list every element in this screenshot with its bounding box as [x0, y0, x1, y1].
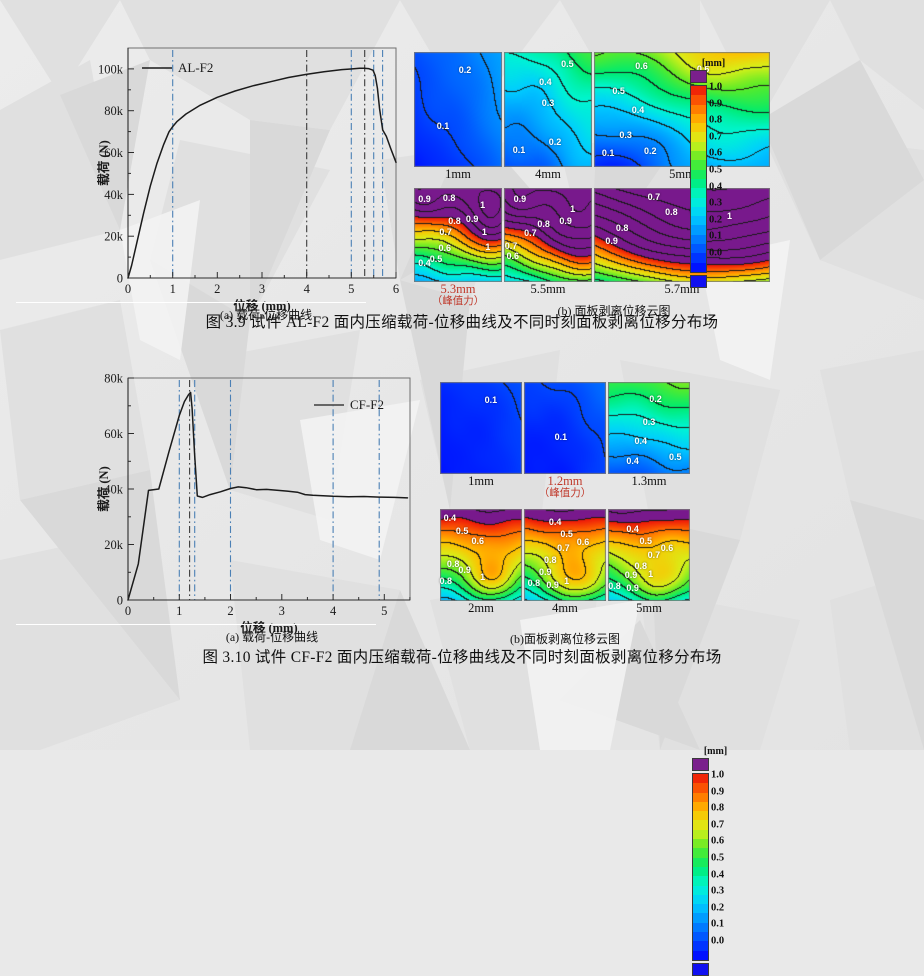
- colorbar-tick: 0.5: [709, 165, 722, 176]
- panel-caption: 2mm: [440, 602, 522, 615]
- colorbar-al-f2: [mm] 1.0 0.9 0.8 0.7 0.6 0.5 0.4 0.3 0.2: [690, 58, 737, 288]
- marker-lines: [173, 50, 383, 278]
- subcaption-a: (a) 载荷-位移曲线: [132, 628, 412, 645]
- colorbar-tick: 0.2: [711, 902, 724, 913]
- contour-panel-5-5mm: 0.9 0.8 0.9 1 0.7 0.7 0.6: [504, 188, 592, 282]
- contour-panel-5-3mm: 0.9 0.8 0.8 0.9 1 1 1 0.7 0.6 0.5 0.4: [414, 188, 502, 282]
- legend-al-f2: AL-F2: [142, 60, 213, 75]
- xtick-1: 1: [170, 282, 176, 296]
- panel-caption: 4mm: [504, 168, 592, 181]
- x-axis-ticks: [128, 594, 410, 600]
- ytick-0: 0: [117, 272, 123, 286]
- xtick-0: 0: [125, 604, 131, 618]
- curve-cf-f2: [128, 392, 408, 600]
- y-axis-title: 载荷 (N): [96, 466, 111, 511]
- contour-row-top-captions: 1mm 1.2mm （峰值力） 1.3mm: [440, 475, 690, 499]
- x-axis-ticks: [128, 272, 396, 278]
- ytick-20k: 20k: [104, 538, 124, 552]
- contour-panel-1-2mm: 0.1: [524, 382, 606, 474]
- colorbar-tick: 0.7: [709, 131, 722, 142]
- xtick-2: 2: [227, 604, 233, 618]
- colorbar-under-cap: [690, 275, 707, 288]
- colorbar-tick: 0.2: [709, 214, 722, 225]
- ytick-20k: 20k: [104, 230, 124, 244]
- panel-caption: 5mm: [608, 602, 690, 615]
- colorbar-title: [mm]: [692, 746, 739, 757]
- colorbar-tick: 0.1: [711, 919, 724, 930]
- colorbar-tick: 0.3: [709, 198, 722, 209]
- contour-panel-5mm: 0.6 0.6 0.5 0.4 0.3 0.1 0.2: [594, 52, 770, 167]
- xtick-4: 4: [304, 282, 311, 296]
- contour-panel-4mm: 0.5 0.4 0.3 0.2 0.1: [504, 52, 592, 167]
- colorbar-over-cap: [690, 70, 707, 83]
- xtick-3: 3: [279, 604, 285, 618]
- panel-caption: 1.3mm: [608, 475, 690, 499]
- xtick-5: 5: [381, 604, 387, 618]
- colorbar-cf-f2: [mm] 1.0 0.9 0.8 0.7 0.6 0.5 0.4 0.3 0.2: [692, 746, 739, 976]
- curve-al-f2: [128, 68, 396, 278]
- colorbar-tick: 0.8: [709, 115, 722, 126]
- contour-row-top: 0.1 0.1 0.2 0.3 0.4 0.4 0.: [440, 382, 690, 474]
- chart-al-f2-load-displacement: AL-F2: [96, 40, 416, 308]
- colorbar-tick: 0.0: [711, 936, 724, 947]
- contour-row-bottom: 0.4 0.5 0.6 0.8 0.9 1 0.8 0.4 0.5 0.6: [440, 509, 690, 601]
- panel-caption-value: 5.3mm: [440, 282, 475, 296]
- contour-panel-5mm: 0.4 0.5 0.6 0.7 0.8 0.9 1 0.8 0.9: [608, 509, 690, 601]
- xtick-4: 4: [330, 604, 337, 618]
- legend-label: CF-F2: [350, 397, 384, 412]
- y-axis-title: 载荷 (N): [96, 140, 111, 185]
- colorbar-tick: 0.7: [711, 819, 724, 830]
- colorbar-tick: 0.4: [709, 181, 722, 192]
- panel-caption: 1mm: [440, 475, 522, 499]
- colorbar-over-cap: [692, 758, 709, 771]
- colorbar-tick: 1.0: [709, 82, 722, 93]
- contour-panel-4mm: 0.4 0.5 0.6 0.7 0.8 0.9 0.8 0.9 1: [524, 509, 606, 601]
- chart-cf-f2-load-displacement: CF-F2 0: [96, 370, 426, 630]
- colorbar-title: [mm]: [690, 58, 737, 69]
- figure-3-9-caption: 图 3.9 试件 AL-F2 面内压缩载荷-位移曲线及不同时刻面板剥离位移分布场: [0, 310, 924, 332]
- ytick-40k: 40k: [104, 188, 124, 202]
- panel-caption: 4mm: [524, 602, 606, 615]
- contour-panel-2mm: 0.4 0.5 0.6 0.8 0.9 1 0.8: [440, 509, 522, 601]
- colorbar-tick: 0.6: [711, 836, 724, 847]
- xtick-6: 6: [393, 282, 399, 296]
- legend-cf-f2: CF-F2: [314, 397, 384, 412]
- y-axis-ticks: [128, 69, 134, 278]
- ytick-0: 0: [117, 594, 123, 608]
- panel-caption-peak: 1.2mm （峰值力）: [524, 475, 606, 499]
- panel-caption: 5mm: [594, 168, 770, 181]
- y-axis-ticks: [128, 378, 134, 600]
- panel-caption-value: 1.2mm: [547, 474, 582, 488]
- contour-panel-5-7mm: 0.7 0.8 0.9 1 0.8 0.9: [594, 188, 770, 282]
- panel-caption: 1mm: [414, 168, 502, 181]
- figure-3-10-caption: 图 3.10 试件 CF-F2 面内压缩载荷-位移曲线及不同时刻面板剥离位移分布…: [0, 645, 924, 667]
- colorbar-tick: 0.1: [709, 231, 722, 242]
- xtick-2: 2: [214, 282, 220, 296]
- ytick-80k: 80k: [104, 372, 124, 386]
- colorbar-tick: 0.5: [711, 853, 724, 864]
- ytick-100k: 100k: [98, 62, 124, 76]
- xtick-0: 0: [125, 282, 131, 296]
- contour-group-cf-f2: 0.1 0.1 0.2 0.3 0.4 0.4 0.: [440, 382, 690, 615]
- ytick-80k: 80k: [104, 104, 124, 118]
- colorbar-tick: 0.3: [711, 886, 724, 897]
- contour-panel-1mm: 0.1: [440, 382, 522, 474]
- colorbar-tick: 0.9: [711, 786, 724, 797]
- colorbar-tick: 0.0: [709, 248, 722, 259]
- colorbar-tick: 0.9: [709, 98, 722, 109]
- ytick-60k: 60k: [104, 427, 124, 441]
- xtick-3: 3: [259, 282, 265, 296]
- xtick-5: 5: [348, 282, 354, 296]
- contour-row-bottom-captions: 2mm 4mm 5mm: [440, 602, 690, 615]
- legend-label: AL-F2: [178, 60, 213, 75]
- contour-panel-1-3mm: 0.2 0.3 0.4 0.4 0.5: [608, 382, 690, 474]
- xtick-1: 1: [176, 604, 182, 618]
- colorbar-under-cap: [692, 963, 709, 976]
- contour-panel-1mm: 0.2 0.1: [414, 52, 502, 167]
- colorbar-tick: 1.0: [711, 770, 724, 781]
- colorbar-tick: 0.8: [711, 803, 724, 814]
- colorbar-tick: 0.6: [709, 148, 722, 159]
- colorbar-tick: 0.4: [711, 869, 724, 880]
- panel-caption-sub: （峰值力）: [524, 488, 606, 499]
